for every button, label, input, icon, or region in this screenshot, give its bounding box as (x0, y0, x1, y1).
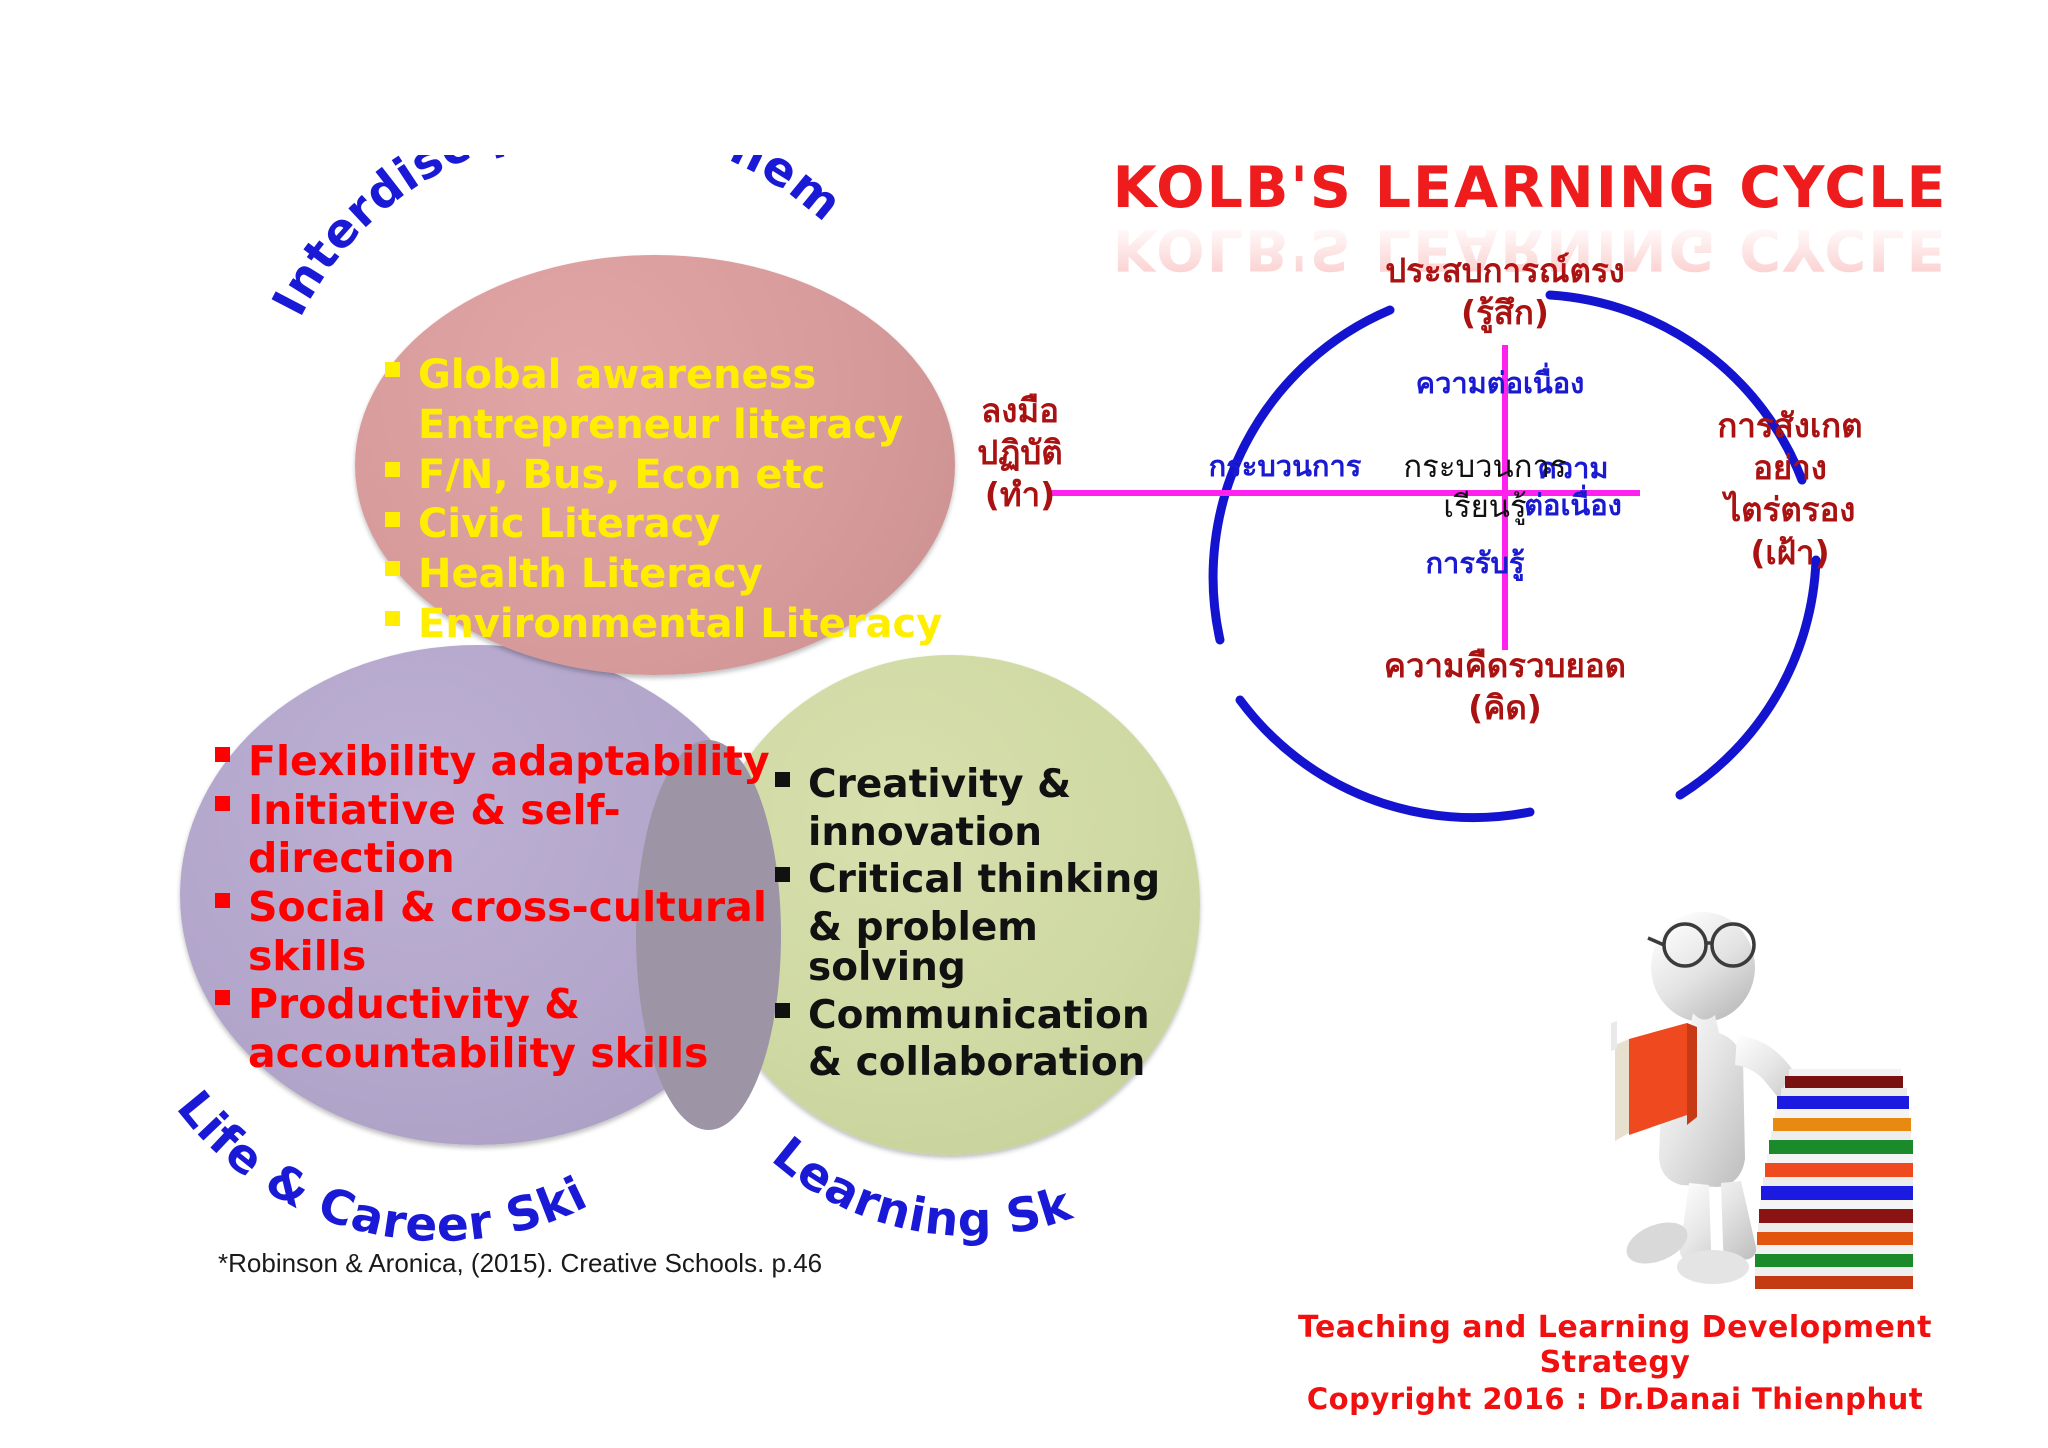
node-abstract-conceptualization-main: ความคืดรวบยอด (1315, 645, 1695, 687)
list-item: Productivity & (215, 983, 775, 1026)
interdisciplinary-theme-list: Global awareness Entrepreneur literacy F… (385, 355, 945, 654)
list-item-label: innovation (808, 813, 1042, 854)
book-stack (1755, 1069, 1913, 1289)
list-item-label: Creativity & (808, 765, 1071, 806)
list-item: Civic Literacy (385, 504, 945, 545)
list-item: Initiative & self- (215, 789, 775, 832)
bullet-square-icon (385, 512, 400, 527)
list-item-label: Productivity & (248, 983, 580, 1026)
copyright-footer: Teaching and Learning Development Strate… (1245, 1310, 1985, 1416)
list-item-label: Entrepreneur literacy (418, 405, 903, 446)
node-reflective-observation-main-3: ไตร่ตรอง (1640, 489, 1940, 531)
list-item-label: Critical thinking (808, 860, 1160, 901)
list-item: Communication (775, 996, 1175, 1037)
footer-line-1: Teaching and Learning Development Strate… (1245, 1310, 1985, 1380)
node-concrete-experience-sub: (รู้สึก) (1320, 292, 1690, 334)
arc-bottom-right (1680, 560, 1816, 795)
node-reflective-observation-main-2: อย่าง (1640, 447, 1940, 489)
list-item: Social & cross-cultural (215, 886, 775, 929)
figure-shoe-right (1677, 1250, 1749, 1284)
list-item-label: Communication (808, 996, 1150, 1037)
list-item-label: Civic Literacy (418, 504, 720, 545)
bullet-square-icon (215, 796, 230, 811)
list-item-label: F/N, Bus, Econ etc (418, 455, 825, 496)
list-item-label: skills (248, 935, 366, 978)
list-item-label: & collaboration (808, 1043, 1145, 1084)
figure-head (1651, 912, 1755, 1022)
list-item-label: & problem solving (808, 908, 1175, 989)
list-item: Critical thinking (775, 860, 1175, 901)
inner-label-bottom: การรับรู้ (1360, 545, 1590, 582)
life-career-skills-list: Flexibility adaptability Initiative & se… (215, 740, 775, 1080)
node-reflective-observation: การสังเกต อย่าง ไตร่ตรอง (เฝ้า) (1640, 405, 1940, 574)
source-citation: *Robinson & Aronica, (2015). Creative Sc… (218, 1248, 822, 1279)
node-abstract-conceptualization-sub: (คิด) (1315, 687, 1695, 729)
bullet-square-icon (385, 611, 400, 626)
slide-canvas: Interdisciplinary Theme Life & Career Sk… (0, 0, 2048, 1448)
list-item-label: Health Literacy (418, 554, 763, 595)
list-item: accountability skills (248, 1032, 775, 1075)
list-item: Global awareness (385, 355, 945, 396)
bullet-square-icon (775, 867, 790, 882)
bullet-square-icon (385, 561, 400, 576)
footer-line-2: Copyright 2016 : Dr.Danai Thienphut (1245, 1382, 1985, 1416)
center-label-learning-process: กระบวนการ เรียนรู้ (1360, 448, 1610, 527)
list-item-label: accountability skills (248, 1032, 708, 1075)
list-item: Entrepreneur literacy (418, 405, 945, 446)
person-with-books-illustration (1585, 905, 1985, 1295)
list-item-label: Environmental Literacy (418, 604, 942, 645)
list-item: direction (248, 837, 775, 880)
kolb-title-reflection: KOLB'S LEARNING CYCLE (1090, 216, 1970, 282)
list-item: & collaboration (808, 1043, 1175, 1084)
list-item-label: Initiative & self- (248, 789, 621, 832)
list-item: Creativity & (775, 765, 1175, 806)
kolb-title: KOLB'S LEARNING CYCLE (1090, 155, 1970, 221)
node-abstract-conceptualization: ความคืดรวบยอด (คิด) (1315, 645, 1695, 729)
list-item: & problem solving (808, 908, 1175, 989)
list-item: Environmental Literacy (385, 604, 945, 645)
list-item-label: Flexibility adaptability (248, 740, 770, 783)
node-reflective-observation-main-1: การสังเกต (1640, 405, 1940, 447)
learning-skills-list: Creativity & innovation Critical thinkin… (775, 765, 1175, 1091)
list-item-label: direction (248, 837, 455, 880)
list-item-label: Social & cross-cultural (248, 886, 767, 929)
center-label-line-1: กระบวนการ (1360, 448, 1610, 488)
center-label-line-2: เรียนรู้ (1360, 488, 1610, 528)
bullet-square-icon (775, 1003, 790, 1018)
list-item: Flexibility adaptability (215, 740, 775, 783)
list-item-label: Global awareness (418, 355, 816, 396)
node-reflective-observation-sub: (เฝ้า) (1640, 532, 1940, 574)
inner-label-top: ความต่อเนื่อง (1365, 365, 1635, 402)
bullet-square-icon (215, 990, 230, 1005)
bullet-square-icon (385, 362, 400, 377)
list-item: skills (248, 935, 775, 978)
bullet-square-icon (215, 893, 230, 908)
venn-diagram: Interdisciplinary Theme Life & Career Sk… (0, 0, 1060, 1300)
bullet-square-icon (775, 772, 790, 787)
list-item: F/N, Bus, Econ etc (385, 455, 945, 496)
list-item: innovation (808, 813, 1175, 854)
list-item: Health Literacy (385, 554, 945, 595)
bullet-square-icon (385, 462, 400, 477)
bullet-square-icon (215, 747, 230, 762)
